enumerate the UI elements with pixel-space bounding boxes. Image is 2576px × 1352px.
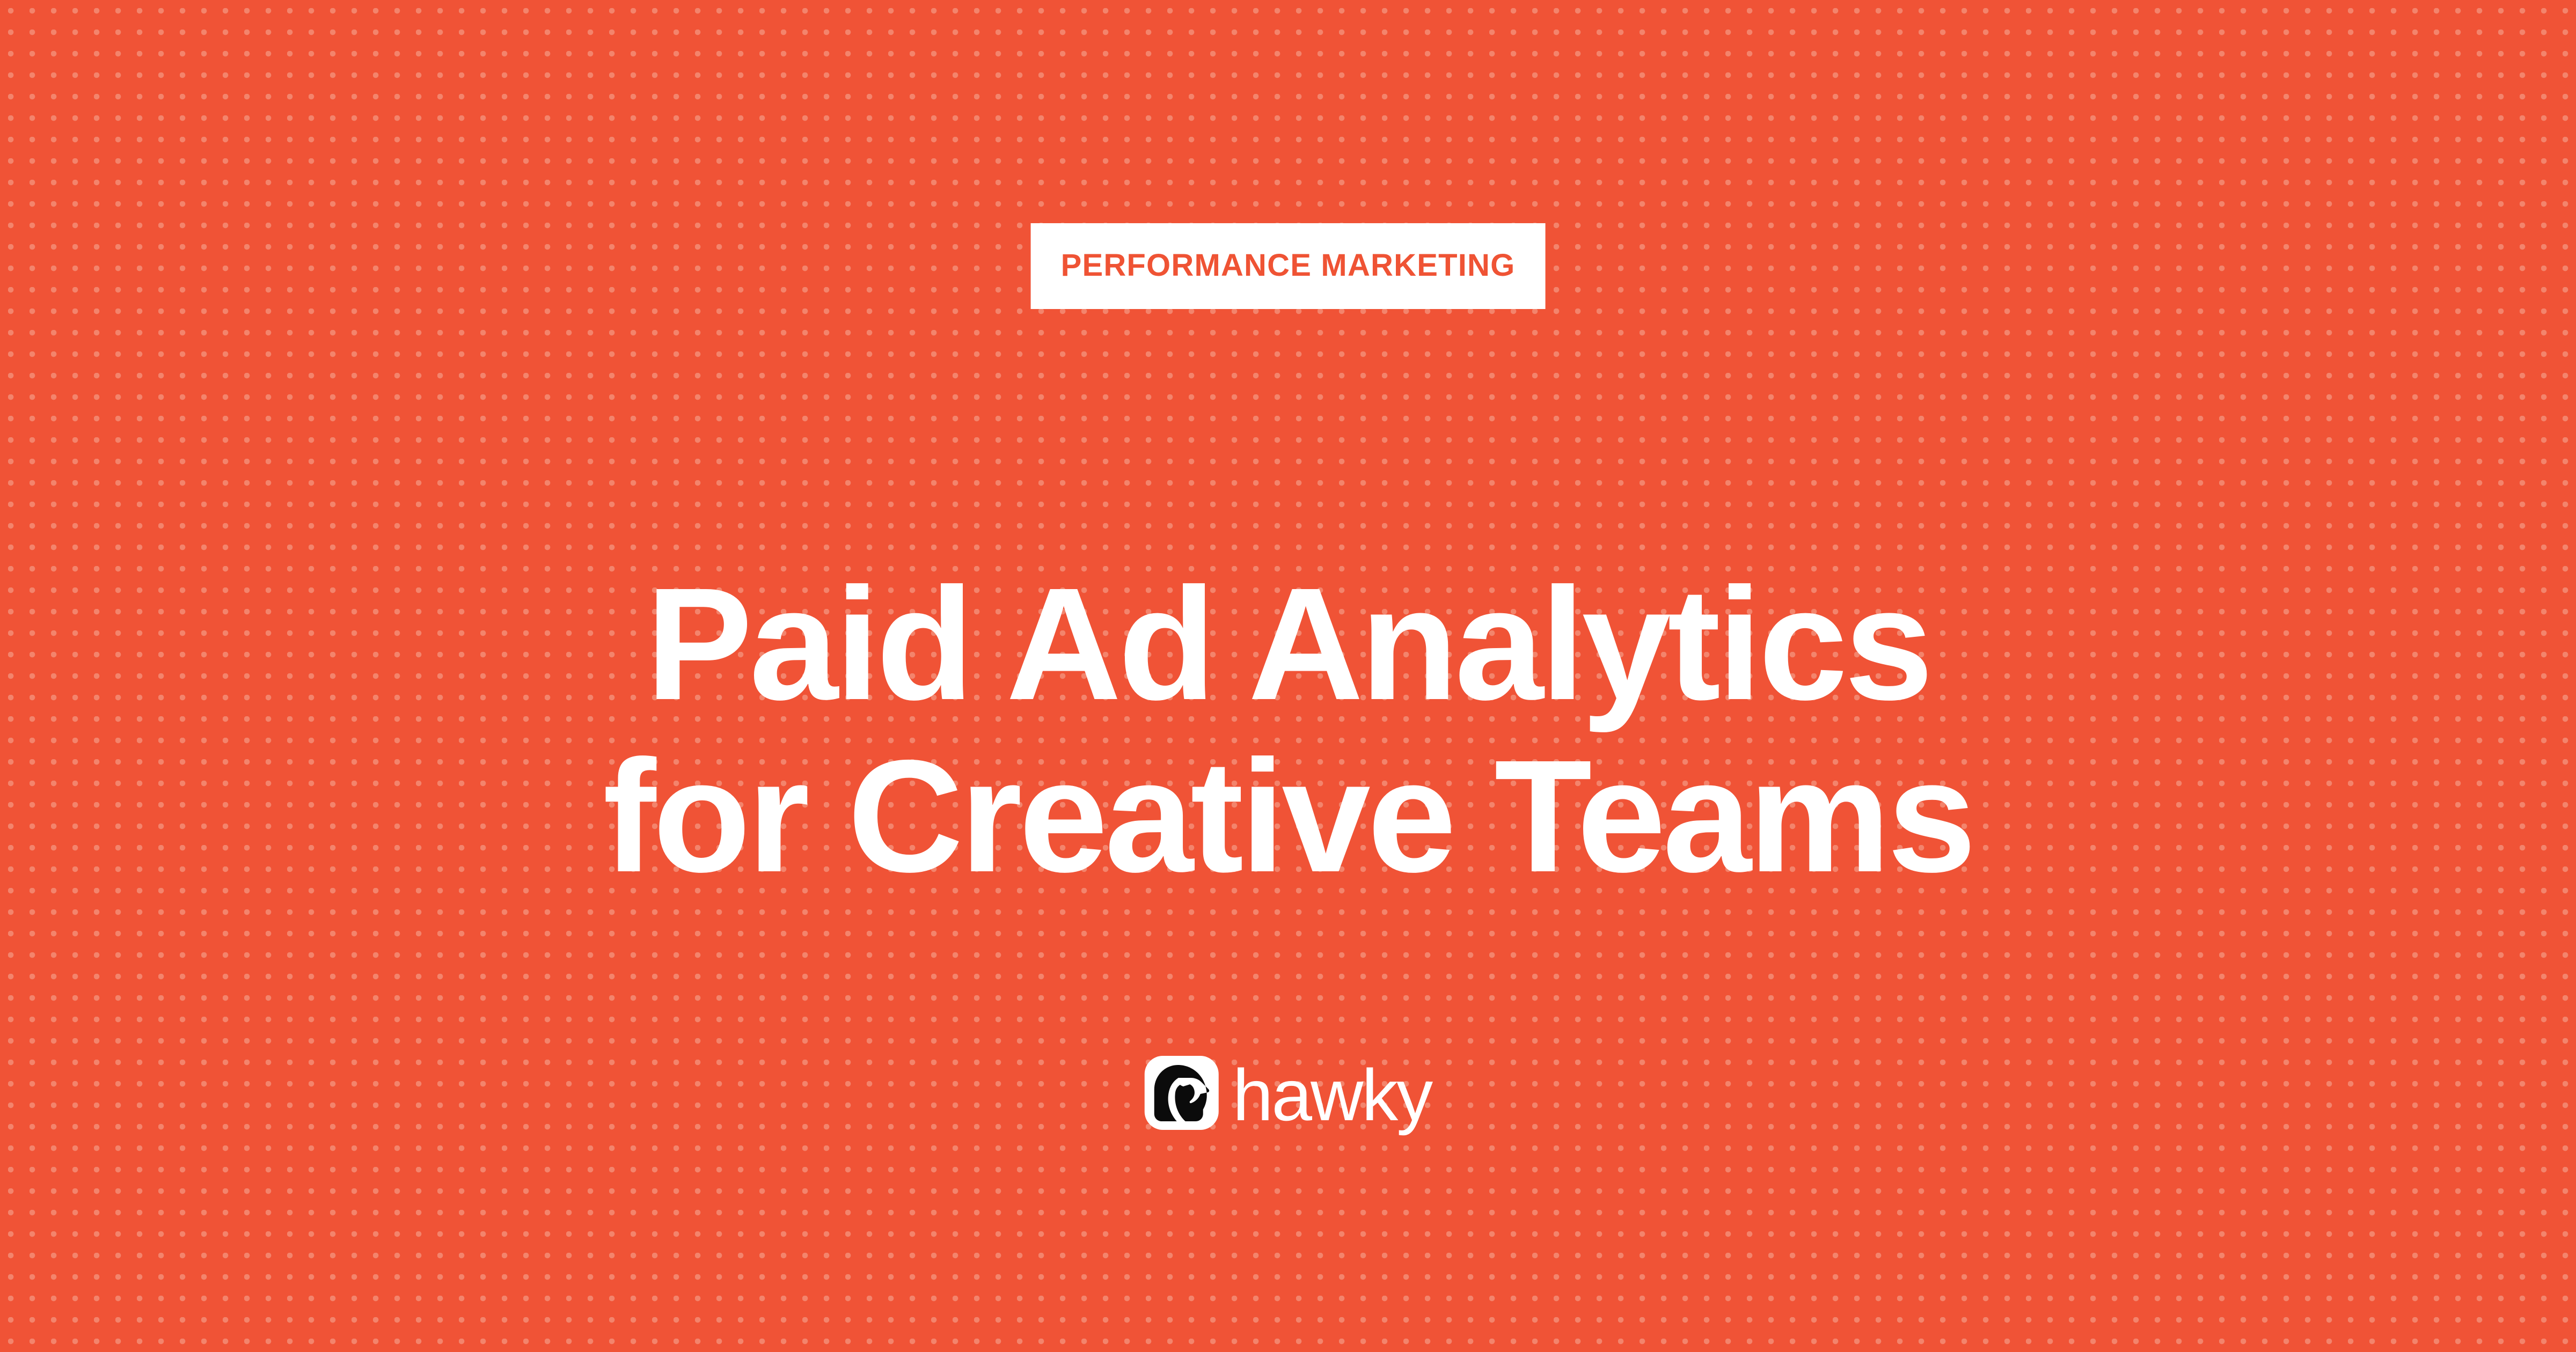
headline-line-1: Paid Ad Analytics bbox=[0, 558, 2576, 731]
brand-wordmark: hawky bbox=[1233, 1059, 1432, 1131]
eyebrow-badge: PERFORMANCE MARKETING bbox=[1031, 223, 1546, 309]
poster-canvas: PERFORMANCE MARKETING Paid Ad Analytics … bbox=[0, 0, 2576, 1352]
poster-content: PERFORMANCE MARKETING Paid Ad Analytics … bbox=[0, 0, 2576, 1352]
eyebrow-label: PERFORMANCE MARKETING bbox=[1061, 250, 1516, 281]
brand-logo-lockup: hawky bbox=[1145, 1056, 1432, 1130]
hawk-head-icon bbox=[1145, 1056, 1219, 1130]
page-title: Paid Ad Analytics for Creative Teams bbox=[0, 558, 2576, 903]
headline-line-2: for Creative Teams bbox=[0, 730, 2576, 903]
